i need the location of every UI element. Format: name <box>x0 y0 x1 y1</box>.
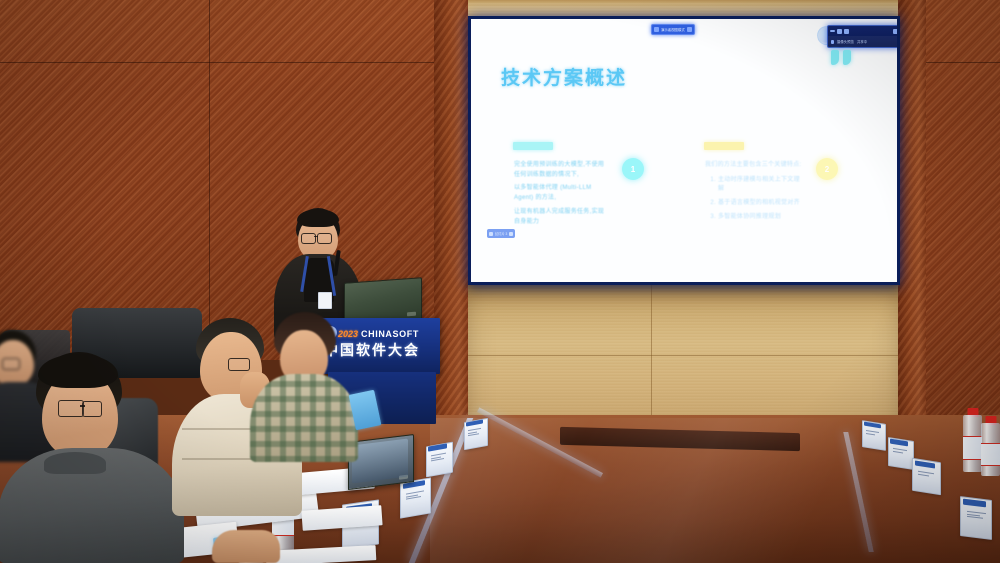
close-icon[interactable] <box>893 29 897 34</box>
presentation-screen[interactable]: 演示者视图模式 摄像头预览 共享中 <box>468 16 900 285</box>
wall-seam-horizontal-lower <box>468 355 900 356</box>
presenter-hair-top <box>297 209 339 227</box>
pointer-icon <box>687 27 692 32</box>
attendee-torso <box>250 374 358 462</box>
right-feature-list: 主动时序建模与相关上下文理解 基于语言模型的相机视觉对齐 多智能体协同推理规划 <box>705 176 805 223</box>
quote-mark-icon <box>831 50 851 65</box>
left-paragraph-3: 让现有机器人完成服务任务,实现自身能力 <box>514 208 610 227</box>
wall-seam-vertical-lower <box>651 283 652 433</box>
right-item-2: 基于语言模型的相机视觉对齐 <box>718 199 805 209</box>
shared-window-overlay[interactable]: 摄像头预览 共享中 <box>827 25 897 48</box>
right-column-text: 我们的方法主要包含三个关键特点: 主动时序建模与相关上下文理解 基于语言模型的相… <box>705 161 805 227</box>
name-card <box>398 478 442 518</box>
speaker-icon[interactable] <box>831 40 834 44</box>
window-status-right: 共享中 <box>857 39 867 44</box>
minimize-icon[interactable] <box>830 30 835 32</box>
right-column-tag <box>704 142 744 150</box>
slide-presenter-toolbar[interactable]: 演示者视图模式 <box>651 24 695 35</box>
right-item-3: 多智能体协同推理规划 <box>718 213 805 223</box>
name-card <box>958 496 1000 540</box>
water-bottle <box>963 408 982 472</box>
right-item-1: 主动时序建模与相关上下文理解 <box>718 176 805 195</box>
left-column-text: 完全使用预训练的大模型,不使用任何训练数据的情况下, 以多智能体代理 (Mult… <box>514 161 610 231</box>
left-paragraph-1: 完全使用预训练的大模型,不使用任何训练数据的情况下, <box>514 161 610 180</box>
wall-pillar-right-of-screen <box>898 0 928 430</box>
slideshow-icon <box>489 232 493 236</box>
attendee-front-left <box>18 352 198 563</box>
presenter-glasses <box>301 233 316 244</box>
right-column-badge: 2 <box>816 158 838 180</box>
glasses-bridge <box>314 236 318 237</box>
glasses-bridge <box>80 405 85 407</box>
attendee-glasses <box>58 400 84 417</box>
window-status-left: 摄像头预览 <box>837 39 854 44</box>
attendee-plaid <box>248 312 360 462</box>
wall-seam-horizontal-right <box>926 62 1000 63</box>
attendee-collar <box>44 452 106 474</box>
attendee-hand <box>212 530 280 563</box>
wall-panel-light-lower <box>468 283 900 433</box>
screenshot-root: 演示者视图模式 摄像头预览 共享中 <box>0 0 1000 563</box>
slide-toolbar-label: 演示者视图模式 <box>661 27 685 32</box>
wall-seam-vertical-left <box>209 0 210 360</box>
window-statusbar: 摄像头预览 共享中 <box>828 36 897 47</box>
presenter-badge <box>318 292 332 309</box>
right-heading: 我们的方法主要包含三个关键特点: <box>705 161 805 171</box>
banner-brand: CHINASOFT <box>361 329 419 339</box>
slide-title: 技术方案概述 <box>501 63 627 90</box>
maximize-icon[interactable] <box>837 29 842 34</box>
name-card <box>462 418 496 448</box>
left-paragraph-2: 以多智能体代理 (Multi-LLM Agent) 的方法, <box>514 184 610 203</box>
wall-seam-horizontal-left <box>0 62 468 63</box>
name-card <box>424 442 462 476</box>
restore-icon[interactable] <box>844 29 849 34</box>
presenter-glasses <box>317 233 332 244</box>
slide-bottom-toolbar[interactable]: 幻灯片 3 <box>487 229 515 238</box>
name-card <box>910 458 950 494</box>
left-column-badge: 1 <box>622 158 644 180</box>
water-bottle <box>981 416 1000 476</box>
slide-bottom-label: 幻灯片 3 <box>495 231 507 236</box>
slide-canvas: 演示者视图模式 摄像头预览 共享中 <box>471 19 897 282</box>
window-titlebar <box>828 26 897 36</box>
wall-panel-dark-right <box>926 0 1000 430</box>
attendee-glasses <box>82 401 102 417</box>
laptop-screen-glow <box>352 439 408 484</box>
attendee-glasses <box>228 358 250 371</box>
bars-icon <box>654 27 659 32</box>
slide-toolbar-chip <box>509 232 513 236</box>
left-column-tag <box>513 142 553 150</box>
